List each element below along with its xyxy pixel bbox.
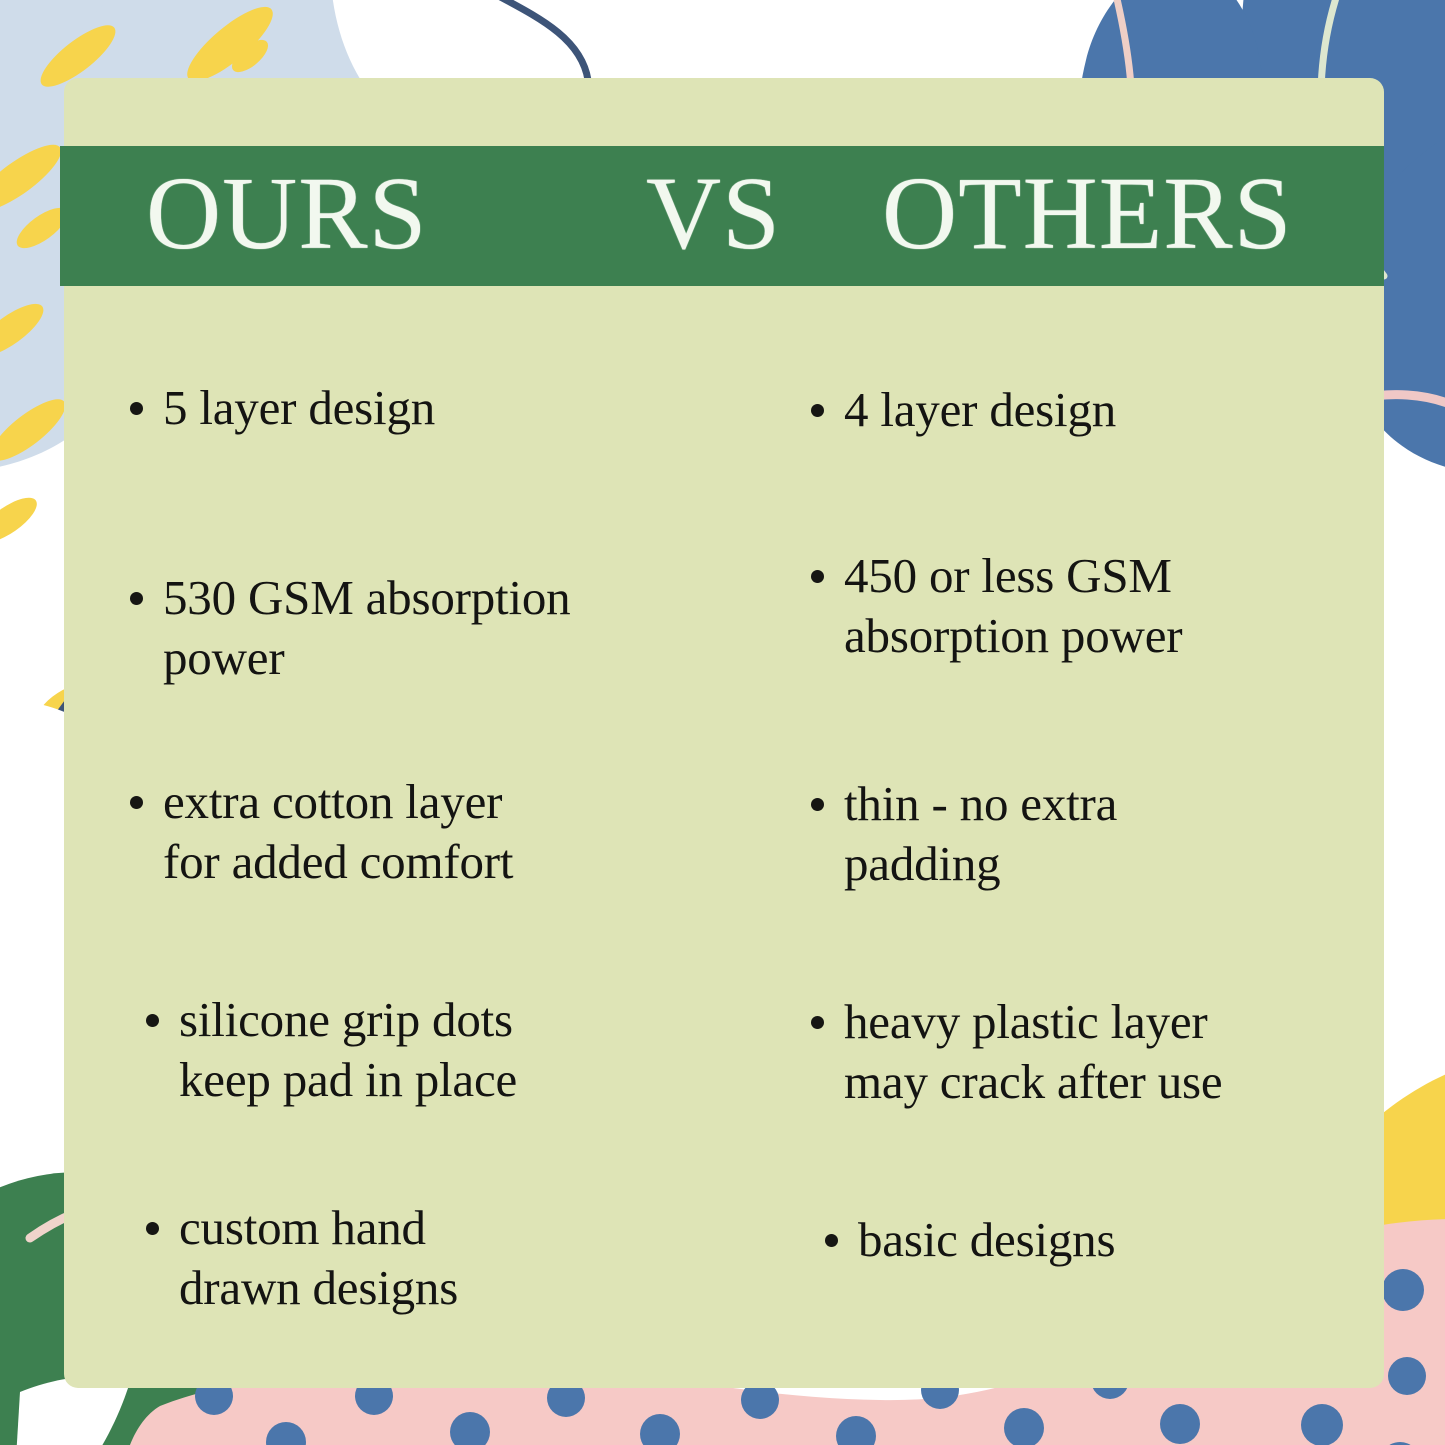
list-item-label: basic designs bbox=[858, 1210, 1115, 1270]
others-column: 4 layer design 450 or less GSM absorptio… bbox=[769, 330, 1384, 1388]
bullet-dot-icon bbox=[811, 1016, 824, 1029]
comparison-columns: 5 layer design 530 GSM absorption power … bbox=[64, 330, 1384, 1388]
comparison-header-bar: OURS VS OTHERS bbox=[60, 146, 1384, 286]
list-item-label: 4 layer design bbox=[844, 380, 1116, 440]
bullet-dot-icon bbox=[825, 1234, 838, 1247]
list-item-label: 5 layer design bbox=[163, 378, 435, 438]
list-item: extra cotton layer for added comfort bbox=[130, 772, 513, 892]
list-item-label: thin - no extra padding bbox=[844, 774, 1117, 894]
header-ours-label: OURS bbox=[146, 162, 427, 266]
list-item-label: heavy plastic layer may crack after use bbox=[844, 992, 1222, 1112]
list-item-label: extra cotton layer for added comfort bbox=[163, 772, 513, 892]
bullet-dot-icon bbox=[811, 570, 824, 583]
list-item: 5 layer design bbox=[130, 378, 435, 438]
infographic-canvas: OURS VS OTHERS 5 layer design 530 GSM ab… bbox=[0, 0, 1445, 1445]
bullet-dot-icon bbox=[130, 796, 143, 809]
list-item-label: 530 GSM absorption power bbox=[163, 568, 570, 688]
list-item: heavy plastic layer may crack after use bbox=[811, 992, 1222, 1112]
header-vs-label: VS bbox=[646, 162, 781, 266]
bullet-dot-icon bbox=[811, 404, 824, 417]
list-item: 450 or less GSM absorption power bbox=[811, 546, 1182, 666]
list-item: thin - no extra padding bbox=[811, 774, 1117, 894]
list-item: 530 GSM absorption power bbox=[130, 568, 570, 688]
bullet-dot-icon bbox=[130, 402, 143, 415]
bullet-dot-icon bbox=[130, 592, 143, 605]
list-item-label: custom hand drawn designs bbox=[179, 1198, 458, 1318]
list-item-label: silicone grip dots keep pad in place bbox=[179, 990, 517, 1110]
bullet-dot-icon bbox=[146, 1222, 159, 1235]
list-item-label: 450 or less GSM absorption power bbox=[844, 546, 1182, 666]
bullet-dot-icon bbox=[146, 1014, 159, 1027]
list-item: silicone grip dots keep pad in place bbox=[146, 990, 517, 1110]
ours-column: 5 layer design 530 GSM absorption power … bbox=[64, 330, 769, 1388]
bullet-dot-icon bbox=[811, 798, 824, 811]
list-item: 4 layer design bbox=[811, 380, 1116, 440]
header-others-label: OTHERS bbox=[882, 162, 1292, 266]
list-item: custom hand drawn designs bbox=[146, 1198, 458, 1318]
list-item: basic designs bbox=[825, 1210, 1115, 1270]
